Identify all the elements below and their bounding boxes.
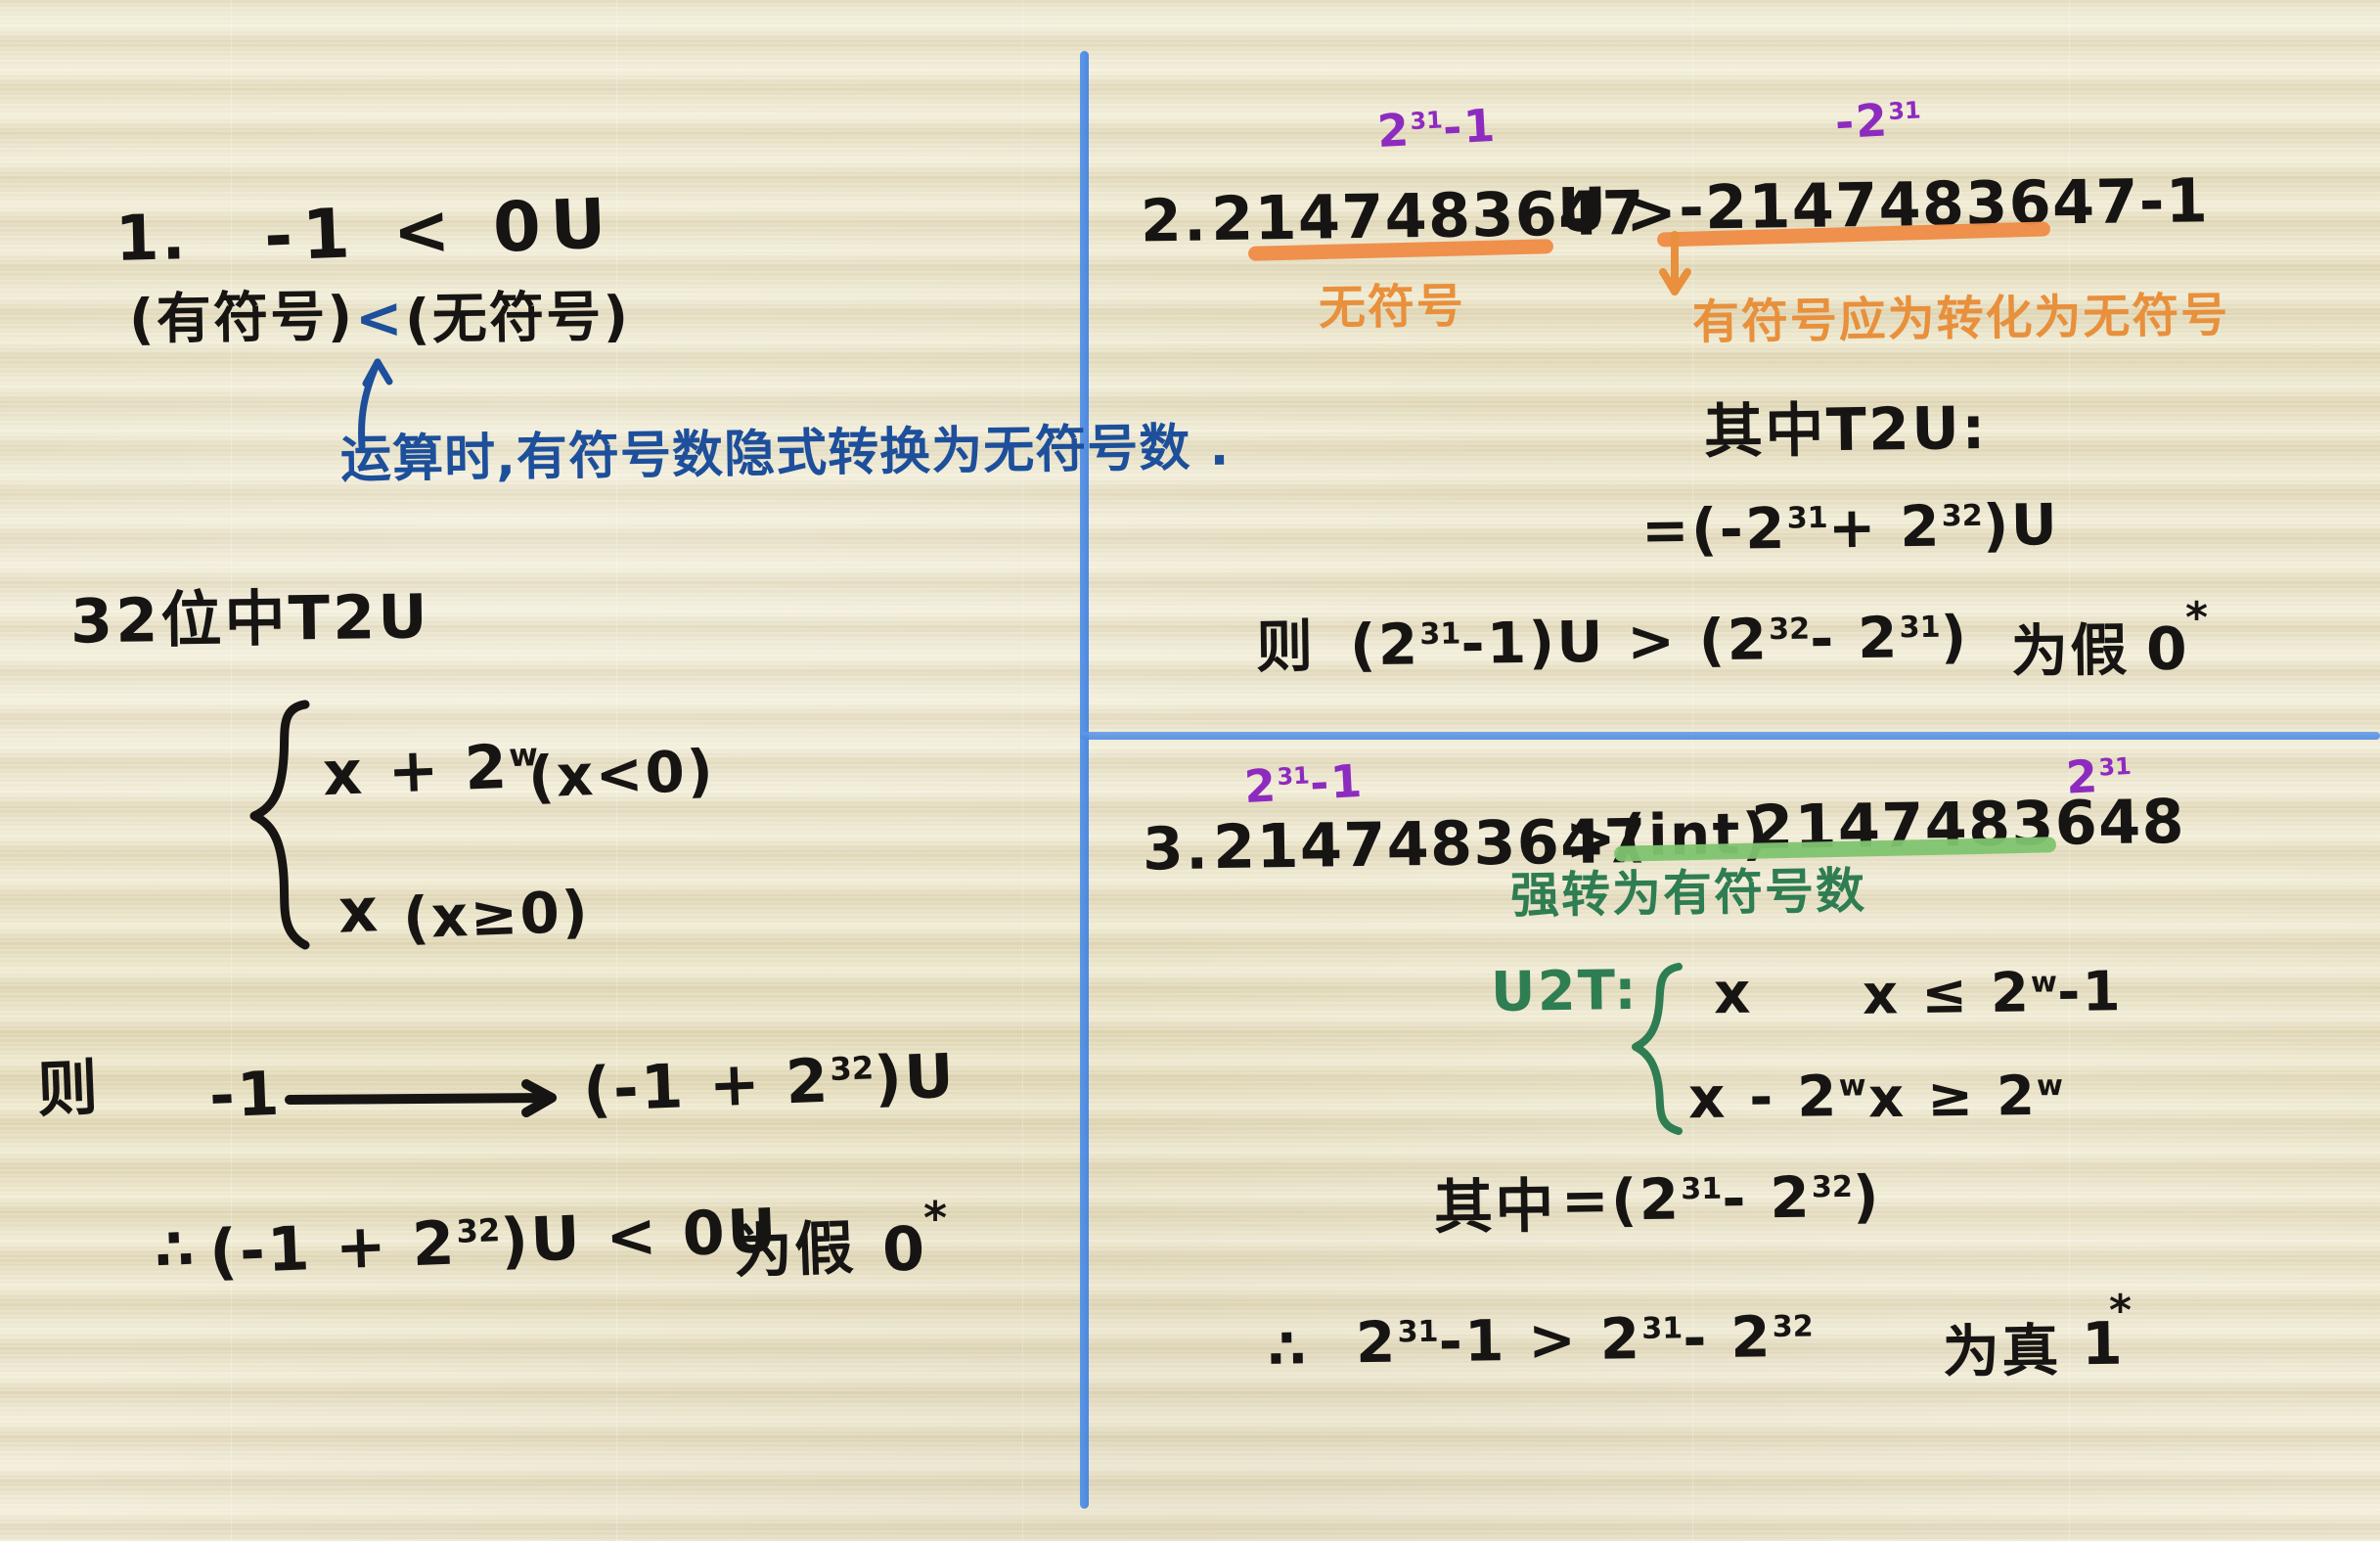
right-bottom-final-star: * (2109, 1290, 2133, 1333)
mapping-open: (-1 + 2 (582, 1045, 831, 1126)
piecewise-case2-condition: (x≥0) (402, 883, 591, 946)
final-open: 2 (1356, 1309, 1399, 1377)
mapping-close: )U (873, 1040, 957, 1114)
purple-b-right-exponent: 31 (2098, 752, 2133, 782)
purple-right-exponent: 31 (1888, 96, 1922, 125)
purple-left-tail: -1 (1442, 99, 1499, 155)
u2t-c2-cond: x ≥ 2 (1868, 1065, 2038, 1130)
result-exponent-1: 31 (1419, 617, 1460, 653)
left-conclusion-star: * (923, 1196, 949, 1241)
left-signed-label: (有符号) (129, 290, 355, 347)
right-top-result-star: * (2185, 597, 2210, 640)
left-main-expression: -1 < 0U (263, 189, 617, 271)
u2t-c2-exponent: w (1838, 1068, 1865, 1103)
final-mid-2: - 2 (1683, 1303, 1774, 1371)
u2t-c2-base: x - 2 (1688, 1063, 1840, 1131)
u2t-c1-cond: x ≤ 2 (1863, 961, 2032, 1026)
orange-down-arrow (1657, 231, 1745, 315)
right-top-result-prefix: 则 (1256, 618, 1316, 676)
right-top-purple-label-right: -231 (1834, 96, 1922, 146)
left-item-number: 1. (114, 206, 189, 271)
right-top-item-number: 2. (1141, 192, 1209, 251)
final-exponent-2: 31 (1641, 1311, 1683, 1346)
right-top-orange-note-right: 有符号应为转化为无符号 (1692, 292, 2230, 346)
right-bottom-green-note: 强转为有符号数 (1510, 866, 1867, 920)
blue-pointer-arrow (323, 323, 460, 450)
piecewise-case1-condition: (x<0) (527, 742, 716, 805)
left-mapping-prefix: 则 (36, 1058, 102, 1120)
right-bottom-purple-label-left: 231-1 (1243, 758, 1365, 809)
left-mapping-target: (-1 + 232)U (582, 1046, 957, 1121)
left-blue-annotation: 运算时,有符号数隐式转换为无符号数 . (340, 423, 1231, 486)
final-mid: -1 > 2 (1438, 1305, 1642, 1375)
left-mapping-from: -1 (208, 1064, 283, 1127)
right-top-result-value: 0 (2146, 620, 2190, 680)
right-bottom-final-expression: 231-1 > 231- 232 (1356, 1308, 1815, 1372)
result-exponent-2: 32 (1769, 612, 1810, 648)
left-section-title: 32位中T2U (70, 586, 431, 652)
left-conclusion-prefix: ∴ (154, 1220, 198, 1279)
right-top-left-operand-suffix: U (1557, 180, 1610, 242)
right-bottom-middle-expression: =(231- 232) (1561, 1168, 1882, 1230)
sub-exponent-2: 32 (1942, 499, 1983, 534)
right-top-sub-expression: =(-231+ 232)U (1641, 496, 2060, 559)
u2t-case2-condition: x ≥ 2w (1868, 1069, 2064, 1127)
u2t-case1-condition: x ≤ 2w-1 (1863, 965, 2124, 1023)
final-exponent-3: 32 (1773, 1309, 1814, 1344)
right-bottom-final-verdict: 为真 (1943, 1322, 2061, 1381)
conclusion-exponent: 32 (456, 1211, 501, 1250)
right-top-result-verdict: 为假 (2011, 621, 2130, 680)
piecewise-case2-value: x (337, 880, 382, 942)
purple-left-base: 2 (1376, 103, 1413, 158)
middle-exponent-1: 31 (1681, 1172, 1722, 1207)
middle-exponent-2: 32 (1812, 1170, 1853, 1205)
u2t-title: U2T: (1491, 964, 1639, 1020)
purple-left-exponent: 31 (1410, 106, 1444, 135)
right-top-orange-note-left: 无符号 (1319, 283, 1465, 332)
sub-expr-open: =(-2 (1641, 495, 1788, 564)
sub-exponent-1: 31 (1786, 501, 1827, 536)
u2t-case1-value: x (1714, 965, 1754, 1022)
result-mid-2: - 2 (1810, 605, 1901, 672)
result-mid: -1)U > (2 (1460, 606, 1770, 676)
piecewise-brace-left (241, 697, 329, 953)
purple-right-base: -2 (1834, 93, 1891, 149)
mapping-exponent: 32 (830, 1049, 875, 1088)
purple-b-left-base: 2 (1243, 758, 1280, 813)
result-close: ) (1940, 604, 1969, 670)
right-bottom-final-prefix: ∴ (1268, 1323, 1309, 1379)
u2t-case2-value: x - 2w (1688, 1067, 1866, 1127)
left-conclusion-result: 0 (881, 1218, 928, 1281)
sub-expr-mid: + 2 (1827, 493, 1942, 562)
middle-close: ) (1852, 1163, 1881, 1230)
purple-b-left-exponent: 31 (1277, 761, 1311, 791)
u2t-c1-tail: -1 (2057, 960, 2124, 1024)
right-bottom-operator: > (1565, 808, 1619, 870)
case1-base: x + 2 (322, 731, 511, 809)
sub-expr-close: )U (1982, 491, 2059, 559)
mapping-arrow (286, 1080, 579, 1119)
middle-open: =(2 (1561, 1166, 1682, 1235)
middle-mid: - 2 (1722, 1164, 1813, 1232)
piecewise-case1-value: x + 2w (322, 736, 540, 804)
piecewise-brace-u2t (1628, 961, 1696, 1137)
u2t-c1-exponent: w (2031, 965, 2057, 998)
right-top-sub-title: 其中T2U: (1704, 399, 1989, 462)
left-conclusion-verdict: 为假 (733, 1219, 857, 1283)
right-bottom-middle-prefix: 其中 (1434, 1177, 1557, 1238)
right-top-purple-label-left: 231-1 (1376, 103, 1498, 154)
result-exponent-3: 31 (1899, 611, 1940, 646)
final-exponent-1: 31 (1397, 1315, 1438, 1350)
right-bottom-item-number: 3. (1143, 820, 1211, 880)
u2t-c2-cond-exponent: w (2037, 1068, 2063, 1102)
conclusion-open: (-1 + 2 (208, 1206, 458, 1288)
result-open: (2 (1350, 611, 1420, 678)
left-conclusion-expression: (-1 + 232)U < 0U (208, 1201, 780, 1283)
purple-b-left-tail: -1 (1309, 754, 1366, 810)
right-top-result-expression: (231-1)U > (232- 231) (1350, 609, 1969, 674)
